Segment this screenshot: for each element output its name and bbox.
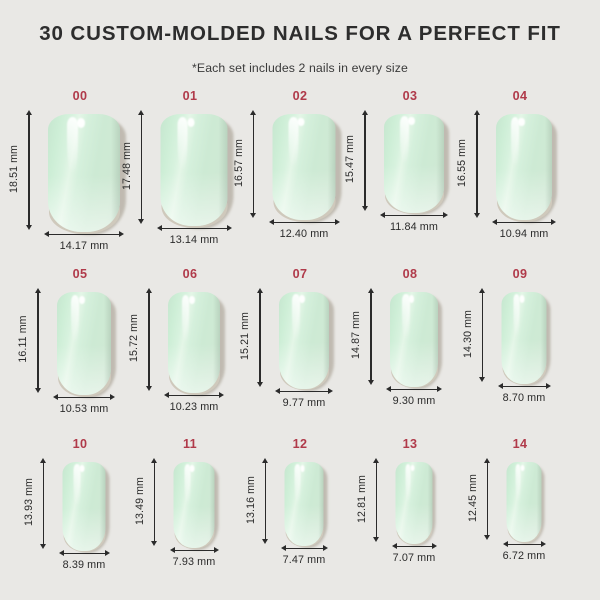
nail-stage: 12.81 mm7.07 mm	[356, 452, 464, 596]
length-dimension-line	[376, 462, 378, 538]
nail-gloss	[295, 464, 301, 504]
nail-body	[279, 292, 329, 389]
width-dimension-label: 12.40 mm	[280, 228, 329, 240]
width-dimension-label: 7.93 mm	[173, 556, 216, 568]
nail-gloss	[400, 116, 409, 164]
nail-stage: 18.51 mm14.17 mm	[26, 104, 134, 266]
nail-body	[396, 462, 433, 544]
size-number-label: 10	[73, 436, 88, 452]
nail-gloss-highlight-dot	[521, 465, 525, 471]
nail-gloss-highlight-dot	[520, 295, 525, 302]
nail-image	[279, 292, 329, 389]
nail-image	[390, 292, 438, 387]
nail-rim	[545, 114, 552, 220]
nail-rim	[436, 114, 444, 213]
width-dimension-label: 8.70 mm	[503, 392, 546, 404]
nail-gloss-highlight-dot	[410, 465, 414, 472]
size-number-label: 02	[293, 88, 308, 104]
width-dimension-label: 7.07 mm	[393, 552, 436, 564]
nail-stage: 15.47 mm11.84 mm	[356, 104, 464, 266]
length-dimension-label: 14.87 mm	[350, 311, 362, 359]
length-dimension-label: 17.48 mm	[121, 142, 133, 190]
size-number-label: 14	[513, 436, 528, 452]
nail-body	[273, 114, 336, 220]
length-dimension-label: 13.49 mm	[134, 477, 146, 525]
nail-size-cell-02: 0216.57 mm12.40 mm	[246, 88, 354, 266]
width-dimension-line	[161, 228, 228, 230]
nail-body	[48, 114, 120, 232]
length-dimension-label: 13.16 mm	[245, 476, 257, 524]
length-dimension-line	[43, 462, 45, 545]
nail-body	[63, 462, 106, 551]
length-dimension-label: 16.11 mm	[17, 315, 29, 363]
nail-image	[57, 292, 111, 395]
nail-body	[161, 114, 228, 226]
width-dimension-line	[174, 550, 215, 552]
nail-size-cell-08: 0814.87 mm9.30 mm	[356, 266, 464, 436]
width-dimension-line	[168, 395, 220, 397]
length-dimension-line	[253, 114, 255, 214]
nail-body	[57, 292, 111, 395]
width-dimension-label: 9.30 mm	[393, 395, 436, 407]
length-dimension-line	[37, 292, 39, 389]
size-number-label: 01	[183, 88, 198, 104]
nail-rim	[111, 114, 120, 232]
nail-gloss-highlight-dot	[409, 295, 414, 303]
nail-sheen	[168, 344, 220, 392]
page-subtitle: *Each set includes 2 nails in every size	[0, 61, 600, 75]
width-dimension-label: 9.77 mm	[283, 397, 326, 409]
nail-gloss-highlight-dot	[518, 118, 524, 126]
width-dimension-line	[502, 386, 547, 388]
length-dimension-line	[265, 462, 267, 540]
nail-stage: 16.11 mm10.53 mm	[26, 282, 134, 436]
nail-rim	[219, 114, 228, 226]
nail-rim	[209, 462, 214, 548]
length-dimension-line	[148, 292, 150, 387]
nail-sheen	[496, 169, 552, 220]
nail-stage: 12.45 mm6.72 mm	[466, 452, 574, 596]
length-dimension-line	[482, 292, 484, 378]
nail-size-cell-05: 0516.11 mm10.53 mm	[26, 266, 134, 436]
nail-gloss-highlight-dot	[300, 465, 304, 472]
nail-size-cell-03: 0315.47 mm11.84 mm	[356, 88, 464, 266]
length-dimension-line	[487, 462, 489, 536]
nail-sheen	[57, 345, 111, 394]
nail-rim	[104, 292, 111, 395]
nail-image	[285, 462, 324, 546]
nail-image	[63, 462, 106, 551]
nail-body	[507, 462, 542, 542]
width-dimension-line	[390, 389, 438, 391]
nail-size-cell-13: 1312.81 mm7.07 mm	[356, 436, 464, 596]
nail-stage: 15.21 mm9.77 mm	[246, 282, 354, 436]
nail-body	[168, 292, 220, 393]
nail-row: 0516.11 mm10.53 mm0615.72 mm10.23 mm0715…	[0, 266, 600, 436]
size-number-label: 11	[183, 436, 197, 452]
length-dimension-line	[141, 114, 143, 220]
nail-size-chart-page: { "header": { "title": "30 CUSTOM-MOLDED…	[0, 0, 600, 600]
nail-size-cell-12: 1213.16 mm7.47 mm	[246, 436, 354, 596]
nail-body	[285, 462, 324, 546]
nail-sheen	[161, 172, 228, 226]
nail-sheen	[384, 165, 444, 213]
page-header: 30 CUSTOM-MOLDED NAILS FOR A PERFECT FIT…	[0, 0, 600, 75]
size-number-label: 04	[513, 88, 528, 104]
nail-stage: 13.49 mm7.93 mm	[136, 452, 244, 596]
size-number-label: 00	[73, 88, 88, 104]
length-dimension-label: 16.57 mm	[233, 139, 245, 187]
length-dimension-line	[476, 114, 478, 214]
nail-stage: 16.57 mm12.40 mm	[246, 104, 354, 266]
nail-stage: 13.16 mm7.47 mm	[246, 452, 354, 596]
nail-stage: 17.48 mm13.14 mm	[136, 104, 244, 266]
width-dimension-line	[48, 234, 120, 236]
size-number-label: 09	[513, 266, 528, 282]
nail-rim	[541, 292, 547, 384]
nail-body	[502, 292, 547, 384]
width-dimension-line	[57, 397, 111, 399]
nail-size-cell-06: 0615.72 mm10.23 mm	[136, 266, 244, 436]
width-dimension-label: 10.23 mm	[170, 401, 219, 413]
length-dimension-line	[364, 114, 366, 207]
nail-image	[48, 114, 120, 232]
nail-row: 0018.51 mm14.17 mm0117.48 mm13.14 mm0216…	[0, 88, 600, 266]
nail-rim	[323, 292, 330, 389]
nail-body	[174, 462, 215, 548]
nail-size-cell-07: 0715.21 mm9.77 mm	[246, 266, 354, 436]
nail-rim	[428, 462, 433, 544]
length-dimension-label: 13.93 mm	[23, 478, 35, 526]
length-dimension-label: 18.51 mm	[8, 145, 20, 193]
nail-size-cell-00: 0018.51 mm14.17 mm	[26, 88, 134, 266]
width-dimension-line	[384, 215, 444, 217]
length-dimension-label: 15.21 mm	[239, 312, 251, 360]
width-dimension-line	[279, 391, 329, 393]
size-number-label: 12	[293, 436, 308, 452]
nail-gloss-highlight-dot	[408, 117, 415, 125]
nail-sheen	[48, 175, 120, 232]
length-dimension-line	[259, 292, 261, 383]
length-dimension-label: 14.30 mm	[462, 310, 474, 358]
nail-stage: 13.93 mm8.39 mm	[26, 452, 134, 596]
width-dimension-label: 14.17 mm	[60, 240, 109, 252]
width-dimension-label: 7.47 mm	[283, 554, 326, 566]
length-dimension-label: 12.81 mm	[356, 475, 368, 523]
nail-stage: 16.55 mm10.94 mm	[466, 104, 574, 266]
length-dimension-label: 12.45 mm	[467, 474, 479, 522]
length-dimension-label: 15.47 mm	[344, 135, 356, 183]
nail-image	[174, 462, 215, 548]
length-dimension-label: 16.55 mm	[456, 139, 468, 187]
nail-stage: 14.87 mm9.30 mm	[356, 282, 464, 436]
nail-image	[507, 462, 542, 542]
nail-size-cell-11: 1113.49 mm7.93 mm	[136, 436, 244, 596]
width-dimension-line	[285, 548, 324, 550]
nail-gloss-highlight-dot	[187, 118, 194, 127]
nail-body	[496, 114, 552, 220]
nail-gloss	[178, 117, 188, 171]
nail-image	[384, 114, 444, 213]
nail-size-cell-04: 0416.55 mm10.94 mm	[466, 88, 574, 266]
nail-image	[161, 114, 228, 226]
nail-gloss-highlight-dot	[79, 296, 85, 304]
nail-rim	[213, 292, 220, 393]
nail-rim	[537, 462, 542, 542]
nail-image	[502, 292, 547, 384]
size-number-label: 13	[403, 436, 418, 452]
nail-sheen	[273, 169, 336, 220]
nail-size-cell-14: 1412.45 mm6.72 mm	[466, 436, 574, 596]
width-dimension-label: 6.72 mm	[503, 550, 546, 562]
nail-body	[384, 114, 444, 213]
width-dimension-label: 8.39 mm	[63, 559, 106, 571]
width-dimension-line	[273, 222, 336, 224]
size-number-label: 03	[403, 88, 418, 104]
nail-size-cell-10: 1013.93 mm8.39 mm	[26, 436, 134, 596]
nail-stage: 14.30 mm8.70 mm	[466, 282, 574, 436]
length-dimension-line	[28, 114, 30, 226]
nail-rim	[327, 114, 335, 220]
nail-gloss-highlight-dot	[298, 118, 305, 126]
nail-size-cell-09: 0914.30 mm8.70 mm	[466, 266, 574, 436]
nail-image	[273, 114, 336, 220]
nail-image	[168, 292, 220, 393]
nail-gloss	[67, 117, 78, 174]
width-dimension-label: 13.14 mm	[170, 234, 219, 246]
nail-body	[390, 292, 438, 387]
size-number-label: 07	[293, 266, 308, 282]
nail-image	[496, 114, 552, 220]
size-number-label: 08	[403, 266, 418, 282]
nail-size-grid: 0018.51 mm14.17 mm0117.48 mm13.14 mm0216…	[0, 88, 600, 596]
size-number-label: 06	[183, 266, 198, 282]
nail-rim	[100, 462, 106, 551]
width-dimension-label: 11.84 mm	[390, 221, 438, 233]
size-number-label: 05	[73, 266, 88, 282]
length-dimension-line	[370, 292, 372, 381]
nail-gloss-highlight-dot	[190, 465, 195, 472]
nail-gloss	[289, 117, 298, 168]
nail-gloss	[71, 295, 79, 344]
nail-gloss	[182, 295, 190, 343]
nail-size-cell-01: 0117.48 mm13.14 mm	[136, 88, 244, 266]
length-dimension-line	[154, 462, 156, 542]
width-dimension-line	[63, 553, 106, 555]
nail-rim	[318, 462, 323, 546]
nail-sheen	[279, 342, 329, 389]
nail-gloss-highlight-dot	[80, 465, 85, 472]
width-dimension-line	[396, 546, 433, 548]
nail-gloss-highlight-dot	[77, 118, 85, 127]
width-dimension-line	[507, 544, 542, 546]
nail-rim	[432, 292, 438, 387]
width-dimension-line	[496, 222, 552, 224]
nail-gloss-highlight-dot	[299, 295, 305, 303]
width-dimension-label: 10.94 mm	[500, 228, 549, 240]
nail-stage: 15.72 mm10.23 mm	[136, 282, 244, 436]
nail-image	[396, 462, 433, 544]
width-dimension-label: 10.53 mm	[60, 403, 109, 415]
nail-gloss-highlight-dot	[189, 296, 195, 304]
page-title: 30 CUSTOM-MOLDED NAILS FOR A PERFECT FIT	[0, 24, 600, 45]
nail-row: 1013.93 mm8.39 mm1113.49 mm7.93 mm1213.1…	[0, 436, 600, 596]
length-dimension-label: 15.72 mm	[128, 314, 140, 362]
